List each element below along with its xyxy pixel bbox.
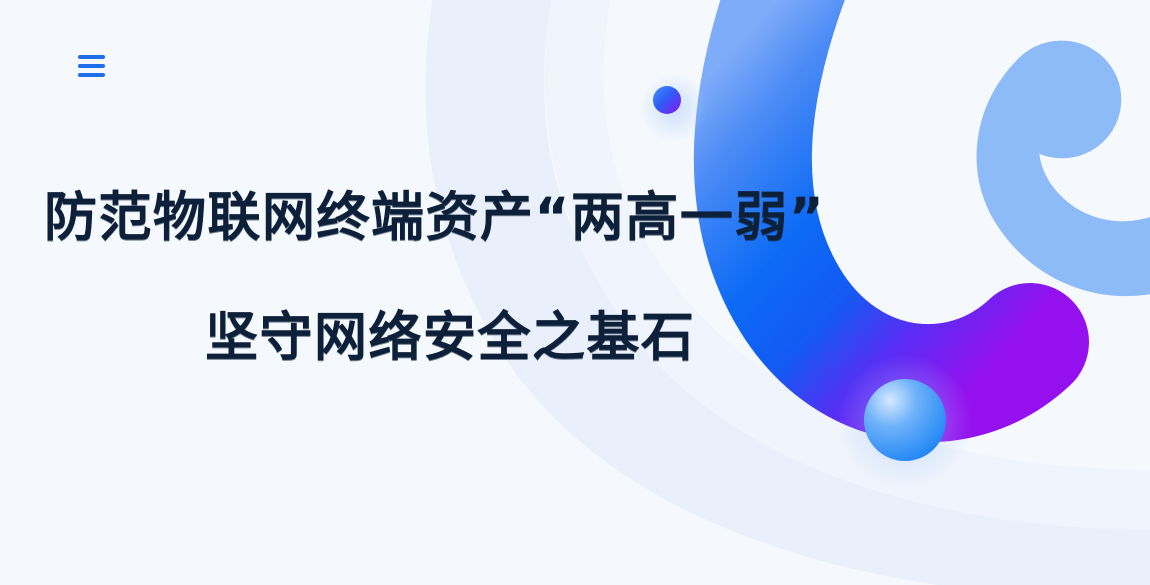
hamburger-menu-icon[interactable]: [78, 46, 118, 86]
small-sphere-glow: [640, 74, 708, 142]
small-gradient-sphere: [653, 86, 681, 114]
slide-title-line-2: 坚守网络安全之基石: [205, 306, 880, 370]
light-blue-crescent: [977, 57, 1150, 296]
light-blue-crescent-cap: [1003, 41, 1122, 159]
large-sphere-glow: [837, 354, 973, 490]
menu-bar-middle: [78, 64, 105, 68]
slide-title-line-1: 防范物联网终端资产“两高一弱”: [44, 186, 880, 250]
large-blue-sphere: [864, 379, 946, 461]
presentation-slide: 防范物联网终端资产“两高一弱” 坚守网络安全之基石: [0, 0, 1150, 585]
menu-bar-bottom: [78, 73, 105, 77]
menu-bar-top: [78, 55, 105, 59]
slide-title-block: 防范物联网终端资产“两高一弱” 坚守网络安全之基石: [0, 186, 880, 370]
